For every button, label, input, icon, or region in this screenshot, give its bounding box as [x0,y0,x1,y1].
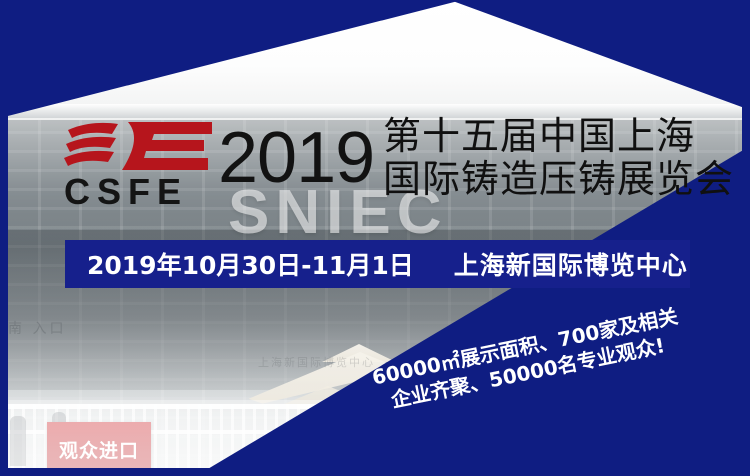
date-venue-bar: 2019年10月30日-11月1日 上海新国际博览中心 [65,240,690,288]
frame-border-right [742,0,750,476]
csfe-logo: CSFE [62,118,218,210]
event-dates: 2019年10月30日-11月1日 [87,246,414,282]
event-title: 第十五届中国上海 国际铸造压铸展览会 [383,117,734,199]
event-title-line2: 国际铸造压铸展览会 [383,160,734,199]
exhibition-poster: SNIEC 1 南 入口 上海新国际博览中心 观众进口 [0,0,750,476]
event-title-line1: 第十五届中国上海 [383,117,734,156]
edition-year: 2019 [218,122,374,194]
csfe-logo-text: CSFE [64,174,216,210]
frame-border-bottom [0,468,750,476]
event-venue: 上海新国际博览中心 [454,246,688,282]
frame-border-left [0,0,8,476]
csfe-monogram-icon [62,118,218,176]
